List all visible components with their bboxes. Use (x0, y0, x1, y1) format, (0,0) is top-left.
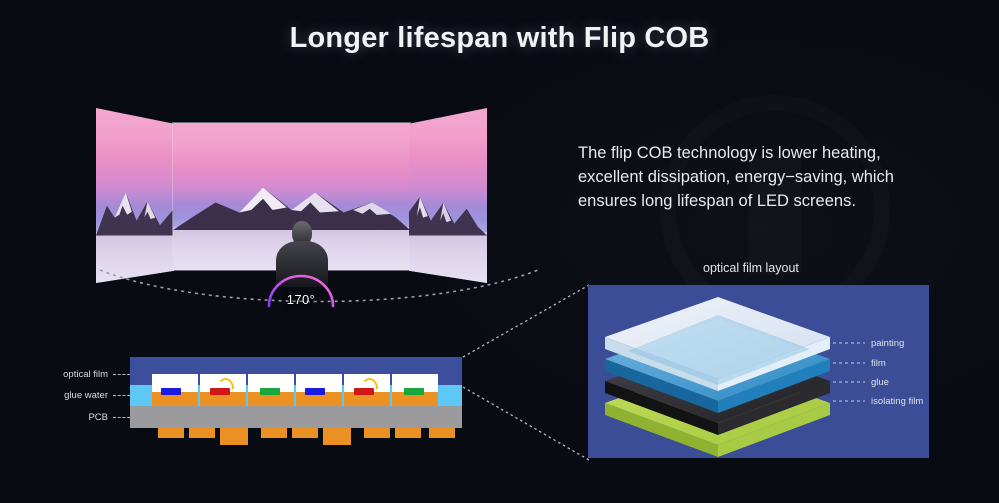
label-glue-water: glue water (40, 390, 108, 401)
solder-pad (261, 428, 287, 438)
solder-pad (323, 428, 351, 445)
led-chip-blue (161, 388, 181, 395)
led-chip-green (404, 388, 424, 395)
curved-led-screen-illustration: 170° (96, 100, 542, 305)
led-cell (392, 374, 438, 406)
solder-pad (429, 428, 455, 438)
led-cell (296, 374, 342, 406)
label-optical-film: optical film (40, 369, 108, 380)
legend-painting: painting (871, 338, 904, 349)
led-chip-green (260, 388, 280, 395)
led-cell (344, 374, 390, 406)
description-text: The flip COB technology is lower heating… (578, 141, 950, 213)
optical-film-layout-panel: painting film glue isolating film (588, 285, 929, 458)
led-chip-red (210, 388, 230, 395)
solder-pad (189, 428, 215, 438)
viewing-angle-label: 170° (264, 292, 338, 307)
solder-pad (395, 428, 421, 438)
legend-isolating-film: isolating film (871, 396, 923, 407)
pcb-cross-section-diagram (130, 357, 462, 457)
snow-plain (409, 232, 487, 283)
led-cell (200, 374, 246, 406)
magnifier-cone (455, 280, 595, 470)
layer-pcb (130, 406, 462, 428)
screen-panel-left (96, 108, 174, 283)
bond-wire-icon (361, 378, 378, 389)
description-line-1: The flip COB technology is lower heating… (578, 141, 950, 165)
legend-glue: glue (871, 377, 889, 388)
screen-panel-right (409, 108, 487, 283)
led-chip-red (354, 388, 374, 395)
solder-pad (364, 428, 390, 438)
legend-film: film (871, 358, 886, 369)
label-pcb: PCB (40, 412, 108, 423)
led-chip-blue (305, 388, 325, 395)
led-cell (152, 374, 198, 406)
page-title: Longer lifespan with Flip COB (0, 22, 999, 55)
viewing-angle-badge: 170° (264, 270, 338, 310)
mountain-range-icon (96, 176, 174, 236)
led-cell (248, 374, 294, 406)
snow-plain (96, 232, 174, 283)
description-line-3: ensures long lifespan of LED screens. (578, 189, 950, 213)
description-line-2: excellent dissipation, energy−saving, wh… (578, 165, 950, 189)
mountain-range-icon (409, 176, 487, 236)
solder-pad (158, 428, 184, 438)
isometric-layer-stack (588, 285, 929, 458)
bond-wire-icon (217, 378, 234, 389)
solder-pad (220, 428, 248, 445)
slide-canvas: Longer lifespan with Flip COB The flip C… (0, 0, 999, 503)
optical-film-layout-caption: optical film layout (703, 261, 799, 275)
solder-pad (292, 428, 318, 438)
